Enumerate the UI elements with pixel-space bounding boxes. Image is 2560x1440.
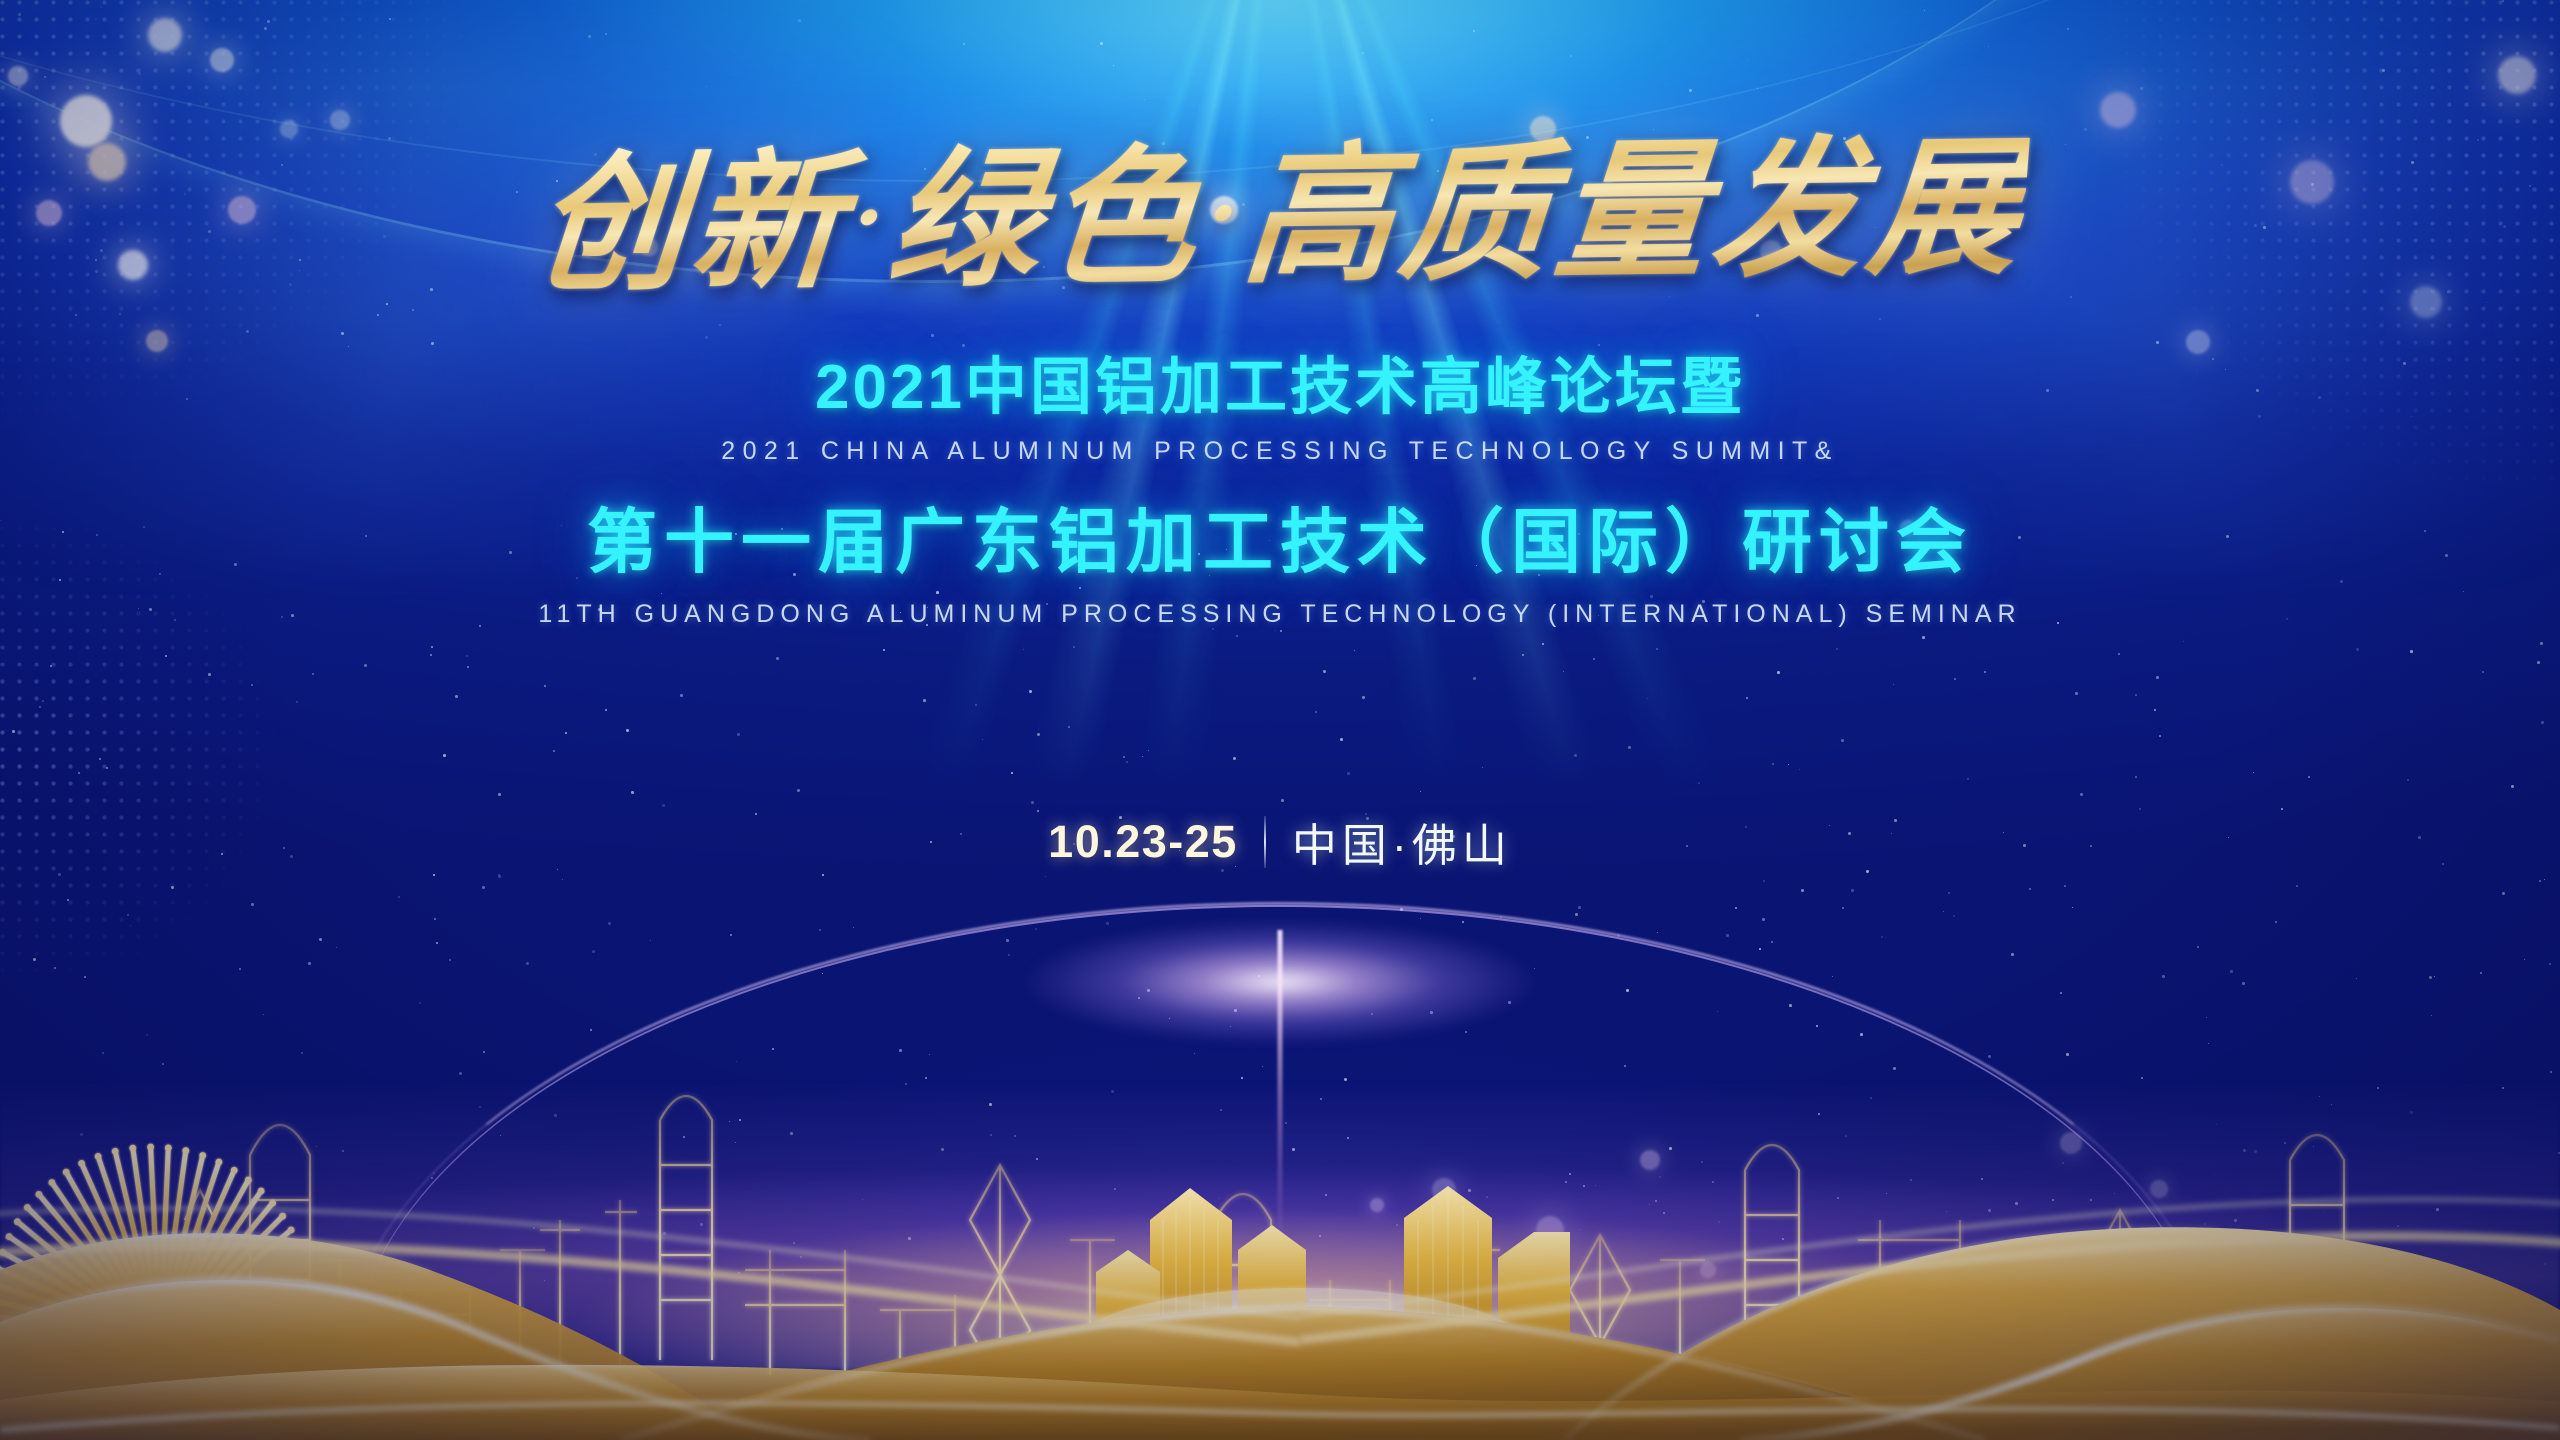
slogan-separator-1: · [850, 167, 888, 268]
slogan-part-3: 高质量发展 [1237, 119, 2031, 305]
title-chinese-line-2: 第十一届广东铝加工技术（国际）研讨会 [587, 486, 1973, 587]
slogan-part-2: 绿色 [883, 129, 1209, 309]
title-english-line-1: 2021 CHINA ALUMINUM PROCESSING TECHNOLOG… [721, 437, 1838, 466]
meta-divider [1264, 816, 1266, 868]
title-english-line-2: 11TH GUANGDONG ALUMINUM PROCESSING TECHN… [538, 600, 2021, 629]
event-date: 10.23-25 [1048, 816, 1238, 868]
title-chinese-line-1: 2021中国铝加工技术高峰论坛暨 [815, 336, 1745, 426]
slogan-part-1: 创新 [529, 133, 855, 313]
theme-slogan: 创新·绿色·高质量发展 [529, 129, 2030, 303]
event-location: 中国·佛山 [1292, 809, 1512, 874]
event-meta: 10.23-25 中国·佛山 [1048, 809, 1512, 874]
conference-banner: 创新·绿色·高质量发展 2021中国铝加工技术高峰论坛暨 2021 CHINA … [0, 0, 2560, 1440]
slogan-separator-2: · [1204, 163, 1242, 264]
